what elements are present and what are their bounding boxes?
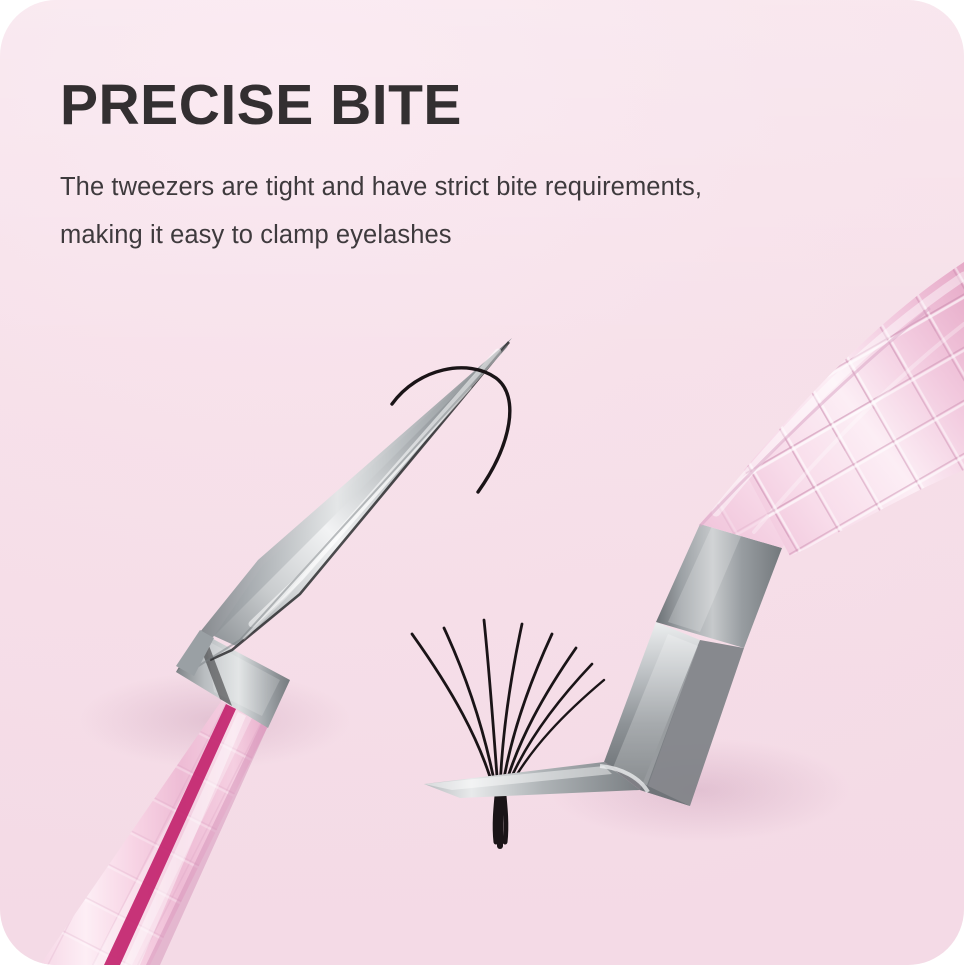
subtitle-line-1: The tweezers are tight and have strict b… <box>60 164 702 212</box>
right-tweezer-steel-shaft <box>656 524 782 648</box>
left-tweezer-pointed-tip <box>176 337 513 676</box>
text-block: PRECISE BITE The tweezers are tight and … <box>60 76 702 260</box>
page-title: PRECISE BITE <box>60 76 702 136</box>
page-subtitle: The tweezers are tight and have strict b… <box>60 164 702 260</box>
product-feature-card: PRECISE BITE The tweezers are tight and … <box>0 0 964 965</box>
right-tweezer-boot-tip <box>424 622 744 806</box>
right-tweezer-pink-handle <box>700 262 964 556</box>
subtitle-line-2: making it easy to clamp eyelashes <box>60 212 702 260</box>
